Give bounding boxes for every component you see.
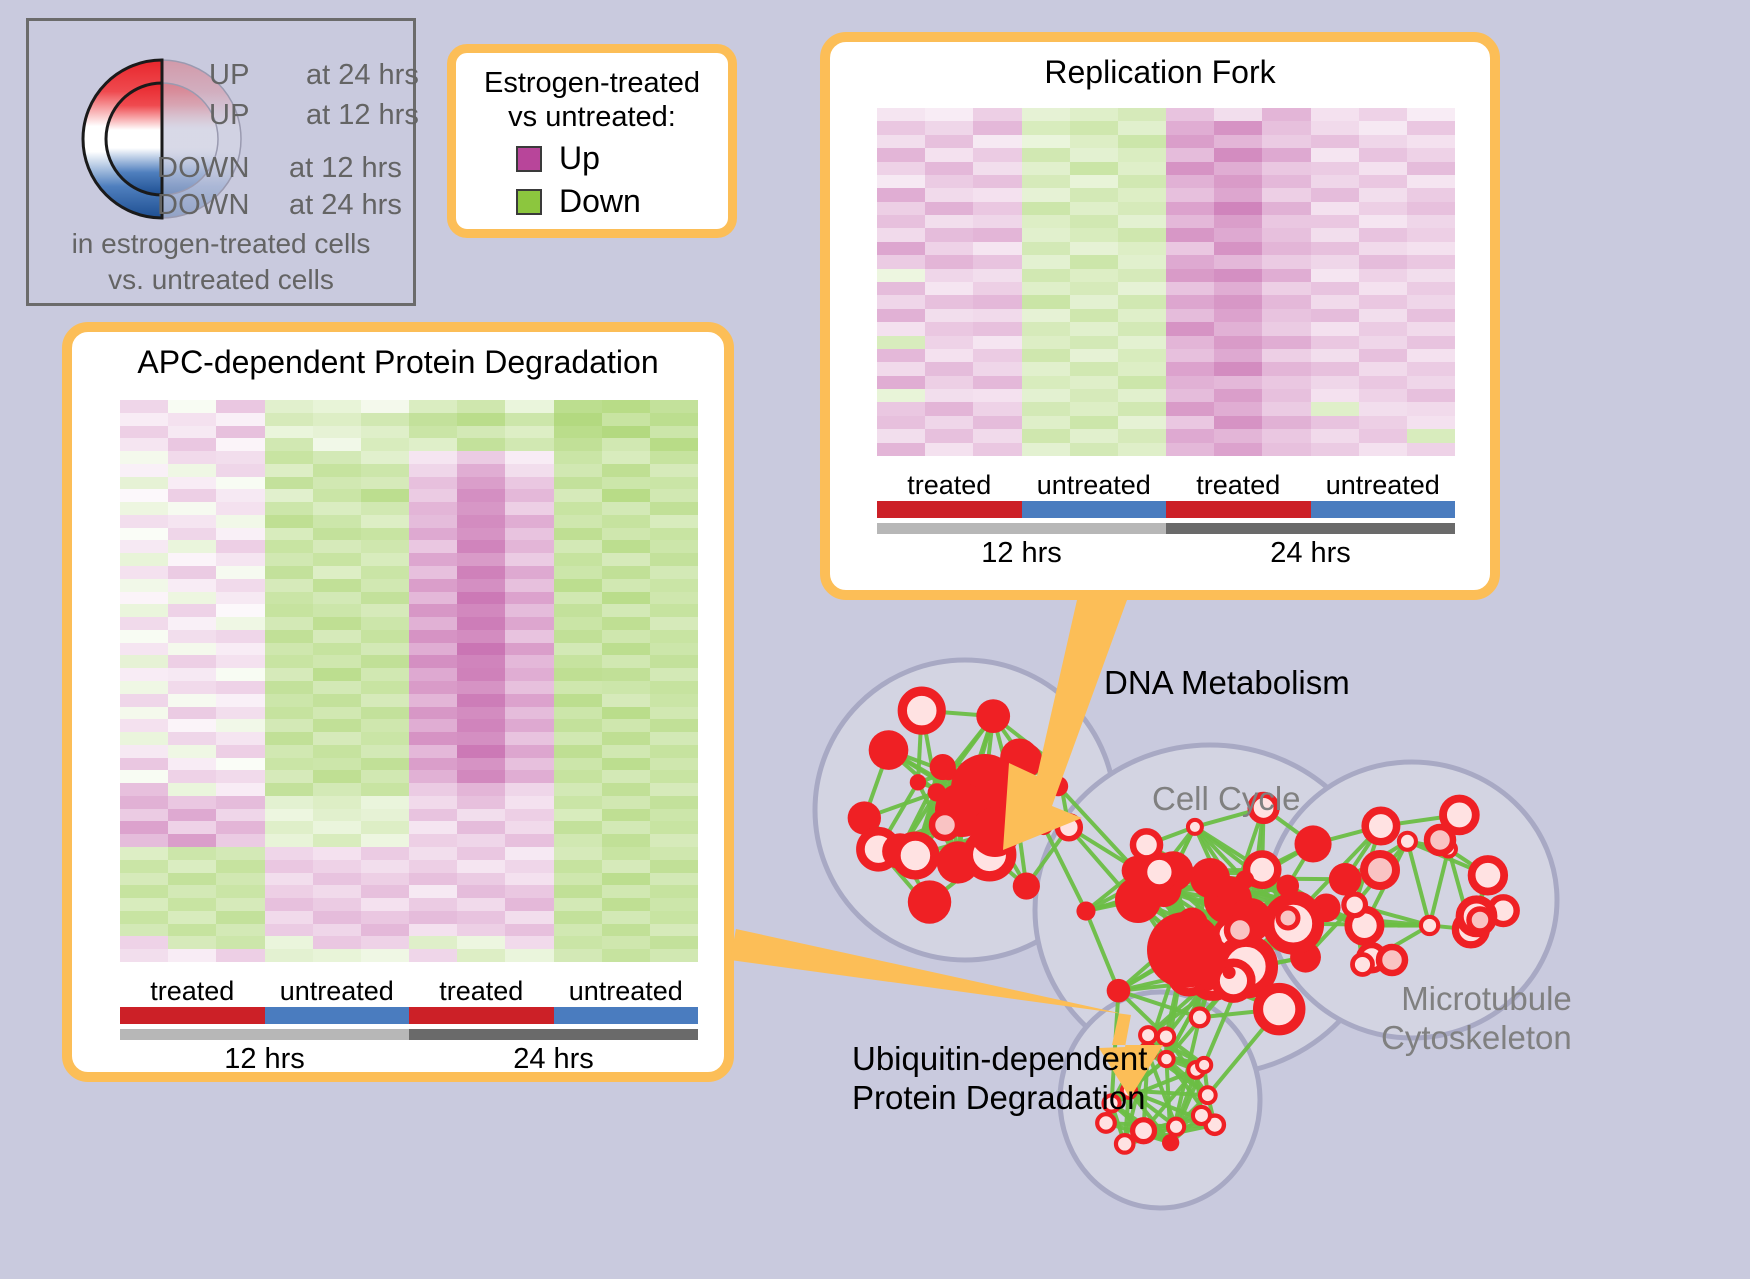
heatmap-cell: [554, 604, 602, 617]
network-node[interactable]: [1188, 820, 1202, 834]
heatmap-cell: [925, 255, 973, 268]
heatmap-cell: [1022, 255, 1070, 268]
heatmap-cell: [1166, 148, 1214, 161]
heatmap-cell: [1262, 416, 1310, 429]
heatmap-cell: [168, 936, 216, 949]
heatmap-cell: [313, 426, 361, 439]
heatmap-cell: [877, 135, 925, 148]
heatmap-cell: [1070, 242, 1118, 255]
heatmap-cell: [1118, 429, 1166, 442]
heatmap-cell: [409, 438, 457, 451]
heatmap-cell: [1166, 429, 1214, 442]
network-node[interactable]: [1329, 863, 1362, 896]
heatmap-cell: [457, 681, 505, 694]
heatmap-cell: [265, 911, 313, 924]
heatmap-cell: [925, 349, 973, 362]
heatmap-cell: [925, 376, 973, 389]
heatmap-cell: [409, 643, 457, 656]
heatmap-cell: [120, 643, 168, 656]
heatmap-cell: [1022, 336, 1070, 349]
network-node[interactable]: [1399, 833, 1416, 850]
heatmap-cell: [877, 295, 925, 308]
heatmap-cell: [1311, 336, 1359, 349]
heatmap-cell: [457, 566, 505, 579]
legend-footer-line2: vs. untreated cells: [29, 262, 413, 298]
legend-row-1-unit: at 12 hrs: [306, 99, 419, 132]
heatmap-cell: [313, 936, 361, 949]
key-row-down: Down: [516, 183, 728, 220]
heatmap-cell: [1311, 429, 1359, 442]
heatmap-cell: [1118, 402, 1166, 415]
heatmap-cell: [1214, 295, 1262, 308]
heatmap-cell: [216, 847, 264, 860]
heatmap-cell: [1166, 376, 1214, 389]
heatmap-cell: [216, 630, 264, 643]
heatmap-cell: [120, 834, 168, 847]
heatmap-cell: [361, 821, 409, 834]
heatmap-cell: [602, 464, 650, 477]
network-label-microtubule-cytoskeleton: Microtubule Cytoskeleton: [1381, 980, 1572, 1058]
heatmap-cell: [1070, 228, 1118, 241]
heatmap-cell: [1166, 416, 1214, 429]
heatmap-cell: [973, 228, 1021, 241]
heatmap-cell: [1214, 282, 1262, 295]
heatmap-cell: [265, 643, 313, 656]
network-node[interactable]: [1200, 1087, 1216, 1103]
heatmap-cell: [168, 528, 216, 541]
heatmap-cell: [1311, 269, 1359, 282]
heatmap-cell: [877, 402, 925, 415]
rf-condition-bar: [877, 501, 1455, 518]
heatmap-cell: [168, 949, 216, 962]
heatmap-cell: [973, 282, 1021, 295]
apc-title: APC-dependent Protein Degradation: [72, 344, 724, 381]
heatmap-cell: [1070, 429, 1118, 442]
heatmap-cell: [1166, 349, 1214, 362]
network-node[interactable]: [1024, 789, 1046, 811]
heatmap-cell: [1311, 242, 1359, 255]
heatmap-cell: [1262, 202, 1310, 215]
heatmap-cell: [1311, 402, 1359, 415]
heatmap-cell: [1359, 295, 1407, 308]
heatmap-cell: [168, 860, 216, 873]
ubiquitin-line1: Ubiquitin-dependent: [852, 1040, 1147, 1079]
heatmap-cell: [216, 655, 264, 668]
heatmap-cell: [120, 745, 168, 758]
heatmap-cell: [505, 400, 553, 413]
network-node[interactable]: [970, 807, 1020, 857]
heatmap-cell: [650, 898, 698, 911]
heatmap-cell: [265, 566, 313, 579]
heatmap-cell: [120, 477, 168, 490]
heatmap-cell: [265, 885, 313, 898]
network-node[interactable]: [1036, 819, 1051, 834]
heatmap-cell: [457, 413, 505, 426]
heatmap-cell: [973, 215, 1021, 228]
heatmap-cell: [1118, 108, 1166, 121]
heatmap-cell: [216, 758, 264, 771]
heatmap-cell: [1311, 322, 1359, 335]
heatmap-cell: [650, 694, 698, 707]
heatmap-cell: [1407, 376, 1455, 389]
network-node[interactable]: [1013, 872, 1040, 899]
network-node[interactable]: [1159, 1052, 1173, 1066]
network-node[interactable]: [896, 836, 935, 875]
heatmap-cell: [925, 188, 973, 201]
heatmap-cell: [216, 617, 264, 630]
heatmap-cell: [1311, 349, 1359, 362]
heatmap-cell: [1118, 443, 1166, 456]
heatmap-cell: [1070, 255, 1118, 268]
heatmap-cell: [973, 429, 1021, 442]
heatmap-cell: [168, 809, 216, 822]
heatmap-cell: [457, 489, 505, 502]
heatmap-cell: [1166, 282, 1214, 295]
heatmap-cell: [1214, 443, 1262, 456]
replication-fork-panel: Replication Fork treated untreated treat…: [820, 32, 1500, 600]
heatmap-cell: [1407, 362, 1455, 375]
heatmap-cell: [877, 443, 925, 456]
network-node[interactable]: [932, 812, 958, 838]
heatmap-cell: [602, 873, 650, 886]
heatmap-cell: [313, 873, 361, 886]
heatmap-cell: [1214, 402, 1262, 415]
heatmap-cell: [120, 438, 168, 451]
heatmap-cell: [457, 630, 505, 643]
heatmap-cell: [1262, 322, 1310, 335]
network-node[interactable]: [902, 691, 941, 730]
heatmap-cell: [1022, 389, 1070, 402]
heatmap-cell: [1359, 175, 1407, 188]
heatmap-cell: [457, 540, 505, 553]
network-node[interactable]: [1364, 854, 1396, 886]
heatmap-cell: [1118, 269, 1166, 282]
heatmap-cell: [1407, 188, 1455, 201]
heatmap-cell: [1407, 255, 1455, 268]
heatmap-cell: [409, 553, 457, 566]
heatmap-cell: [313, 464, 361, 477]
heatmap-cell: [1118, 121, 1166, 134]
network-node[interactable]: [1147, 912, 1223, 988]
heatmap-cell: [120, 426, 168, 439]
heatmap-cell: [505, 553, 553, 566]
network-node[interactable]: [908, 880, 951, 923]
heatmap-cell: [361, 949, 409, 962]
heatmap-cell: [1407, 135, 1455, 148]
heatmap-cell: [1022, 443, 1070, 456]
heatmap-cell: [877, 349, 925, 362]
network-node[interactable]: [869, 730, 909, 770]
heatmap-cell: [120, 949, 168, 962]
network-node[interactable]: [1427, 827, 1453, 853]
network-node[interactable]: [1115, 877, 1161, 923]
network-node[interactable]: [1116, 1135, 1134, 1153]
network-node[interactable]: [1258, 988, 1300, 1030]
network-node[interactable]: [1294, 825, 1331, 862]
heatmap-cell: [1407, 336, 1455, 349]
heatmap-cell: [168, 783, 216, 796]
heatmap-cell: [313, 809, 361, 822]
heatmap-cell: [265, 553, 313, 566]
heatmap-cell: [168, 592, 216, 605]
heatmap-cell: [120, 796, 168, 809]
heatmap-cell: [361, 860, 409, 873]
heatmap-cell: [361, 745, 409, 758]
heatmap-cell: [409, 489, 457, 502]
heatmap-cell: [602, 451, 650, 464]
network-node[interactable]: [1278, 908, 1298, 928]
heatmap-cell: [168, 821, 216, 834]
heatmap-cell: [650, 643, 698, 656]
heatmap-cell: [1262, 242, 1310, 255]
network-node[interactable]: [1057, 816, 1080, 839]
heatmap-cell: [409, 451, 457, 464]
heatmap-cell: [505, 911, 553, 924]
heatmap-cell: [216, 898, 264, 911]
heatmap-cell: [168, 834, 216, 847]
heatmap-cell: [602, 898, 650, 911]
heatmap-cell: [877, 228, 925, 241]
heatmap-cell: [973, 121, 1021, 134]
estrogen-key-title-line1: Estrogen-treated: [456, 66, 728, 100]
heatmap-cell: [554, 464, 602, 477]
heatmap-cell: [554, 821, 602, 834]
heatmap-cell: [1262, 255, 1310, 268]
heatmap-cell: [1407, 389, 1455, 402]
heatmap-cell: [120, 719, 168, 732]
network-node[interactable]: [976, 699, 1010, 733]
network-node[interactable]: [1344, 894, 1366, 916]
heatmap-cell: [409, 949, 457, 962]
heatmap-cell: [168, 732, 216, 745]
apc-cond-1: untreated: [265, 976, 410, 1007]
network-node[interactable]: [1052, 761, 1064, 773]
heatmap-cell: [265, 936, 313, 949]
apc-panel: APC-dependent Protein Degradation treate…: [62, 322, 734, 1082]
heatmap-cell: [1359, 162, 1407, 175]
heatmap-cell: [1166, 255, 1214, 268]
heatmap-cell: [650, 924, 698, 937]
heatmap-cell: [1166, 322, 1214, 335]
heatmap-cell: [361, 707, 409, 720]
heatmap-cell: [925, 108, 973, 121]
heatmap-cell: [409, 834, 457, 847]
heatmap-cell: [313, 630, 361, 643]
heatmap-cell: [409, 528, 457, 541]
heatmap-cell: [554, 707, 602, 720]
heatmap-cell: [457, 873, 505, 886]
heatmap-cell: [1407, 443, 1455, 456]
heatmap-cell: [1022, 282, 1070, 295]
heatmap-cell: [168, 758, 216, 771]
heatmap-cell: [457, 847, 505, 860]
heatmap-cell: [877, 215, 925, 228]
heatmap-cell: [1070, 336, 1118, 349]
heatmap-cell: [361, 413, 409, 426]
heatmap-cell: [168, 681, 216, 694]
heatmap-cell: [602, 834, 650, 847]
network-node[interactable]: [1469, 909, 1491, 931]
heatmap-cell: [1118, 336, 1166, 349]
heatmap-cell: [265, 694, 313, 707]
heatmap-cell: [602, 566, 650, 579]
heatmap-cell: [265, 732, 313, 745]
heatmap-cell: [216, 770, 264, 783]
heatmap-cell: [168, 413, 216, 426]
heatmap-cell: [457, 745, 505, 758]
heatmap-cell: [216, 949, 264, 962]
heatmap-cell: [1070, 108, 1118, 121]
network-node[interactable]: [1133, 1120, 1155, 1142]
heatmap-cell: [602, 643, 650, 656]
heatmap-cell: [409, 898, 457, 911]
heatmap-cell: [120, 502, 168, 515]
heatmap-cell: [216, 719, 264, 732]
network-node[interactable]: [1107, 979, 1131, 1003]
heatmap-cell: [1214, 188, 1262, 201]
network-node[interactable]: [1197, 1058, 1211, 1072]
heatmap-cell: [650, 426, 698, 439]
heatmap-cell: [650, 413, 698, 426]
heatmap-cell: [1118, 322, 1166, 335]
heatmap-cell: [1407, 162, 1455, 175]
heatmap-cell: [1214, 162, 1262, 175]
heatmap-cell: [120, 911, 168, 924]
network-node[interactable]: [1223, 966, 1236, 979]
heatmap-cell: [1070, 202, 1118, 215]
heatmap-cell: [1166, 295, 1214, 308]
heatmap-cell: [409, 719, 457, 732]
network-node[interactable]: [1353, 955, 1373, 975]
network-node[interactable]: [1227, 917, 1253, 943]
heatmap-cell: [1166, 202, 1214, 215]
heatmap-cell: [1214, 362, 1262, 375]
heatmap-cell: [1359, 228, 1407, 241]
heatmap-cell: [265, 528, 313, 541]
heatmap-cell: [602, 515, 650, 528]
network-node[interactable]: [1076, 902, 1095, 921]
network-node[interactable]: [1472, 859, 1505, 892]
heatmap-cell: [1022, 108, 1070, 121]
heatmap-cell: [168, 668, 216, 681]
heatmap-cell: [1407, 202, 1455, 215]
heatmap-cell: [216, 643, 264, 656]
heatmap-cell: [216, 553, 264, 566]
heatmap-cell: [1166, 443, 1214, 456]
heatmap-cell: [602, 936, 650, 949]
network-node[interactable]: [1158, 1028, 1174, 1044]
heatmap-cell: [168, 489, 216, 502]
rf-cond-0: treated: [877, 470, 1022, 501]
heatmap-cell: [505, 694, 553, 707]
heatmap-cell: [1262, 376, 1310, 389]
heatmap-cell: [1311, 443, 1359, 456]
heatmap-cell: [1022, 309, 1070, 322]
heatmap-cell: [313, 860, 361, 873]
heatmap-cell: [361, 719, 409, 732]
heatmap-cell: [457, 796, 505, 809]
heatmap-cell: [650, 834, 698, 847]
heatmap-cell: [361, 873, 409, 886]
heatmap-cell: [973, 162, 1021, 175]
heatmap-cell: [602, 400, 650, 413]
heatmap-cell: [505, 732, 553, 745]
heatmap-cell: [650, 681, 698, 694]
heatmap-cell: [120, 566, 168, 579]
heatmap-cell: [925, 148, 973, 161]
heatmap-cell: [650, 949, 698, 962]
heatmap-cell: [361, 630, 409, 643]
heatmap-cell: [457, 809, 505, 822]
heatmap-cell: [313, 502, 361, 515]
heatmap-cell: [505, 655, 553, 668]
heatmap-cell: [877, 416, 925, 429]
rf-cond-2: treated: [1166, 470, 1311, 501]
heatmap-cell: [216, 438, 264, 451]
heatmap-cell: [973, 108, 1021, 121]
heatmap-cell: [554, 911, 602, 924]
heatmap-cell: [554, 809, 602, 822]
heatmap-cell: [409, 617, 457, 630]
heatmap-cell: [1118, 148, 1166, 161]
heatmap-cell: [120, 924, 168, 937]
heatmap-cell: [554, 758, 602, 771]
ubiquitin-line2: Protein Degradation: [852, 1079, 1147, 1118]
heatmap-cell: [1022, 135, 1070, 148]
network-node[interactable]: [1191, 1009, 1209, 1027]
network-node[interactable]: [1168, 1119, 1184, 1135]
heatmap-cell: [313, 911, 361, 924]
network-node[interactable]: [1048, 776, 1068, 796]
heatmap-cell: [505, 502, 553, 515]
heatmap-cell: [313, 489, 361, 502]
up-color-swatch-icon: [516, 146, 542, 172]
heatmap-cell: [1311, 215, 1359, 228]
heatmap-cell: [1311, 228, 1359, 241]
rf-bar-treated-12: [877, 501, 1022, 518]
network-node[interactable]: [1365, 810, 1396, 841]
heatmap-cell: [457, 949, 505, 962]
heatmap-cell: [1359, 389, 1407, 402]
apc-heatmap: [120, 400, 698, 962]
network-node[interactable]: [1190, 858, 1230, 898]
heatmap-cell: [120, 400, 168, 413]
heatmap-cell: [1407, 349, 1455, 362]
heatmap-cell: [457, 553, 505, 566]
heatmap-cell: [554, 566, 602, 579]
heatmap-cell: [1022, 228, 1070, 241]
heatmap-cell: [1022, 376, 1070, 389]
heatmap-cell: [1166, 228, 1214, 241]
network-node[interactable]: [1193, 1107, 1210, 1124]
heatmap-cell: [409, 860, 457, 873]
heatmap-cell: [1118, 416, 1166, 429]
heatmap-cell: [1166, 402, 1214, 415]
heatmap-cell: [650, 719, 698, 732]
network-node[interactable]: [910, 774, 926, 790]
heatmap-cell: [457, 502, 505, 515]
network-node[interactable]: [1421, 917, 1438, 934]
apc-timepoint-bar: [120, 1029, 698, 1040]
network-node[interactable]: [1379, 947, 1405, 973]
heatmap-cell: [265, 413, 313, 426]
heatmap-cell: [973, 336, 1021, 349]
heatmap-cell: [554, 719, 602, 732]
heatmap-cell: [216, 592, 264, 605]
heatmap-cell: [361, 438, 409, 451]
heatmap-cell: [1359, 429, 1407, 442]
heatmap-cell: [650, 745, 698, 758]
